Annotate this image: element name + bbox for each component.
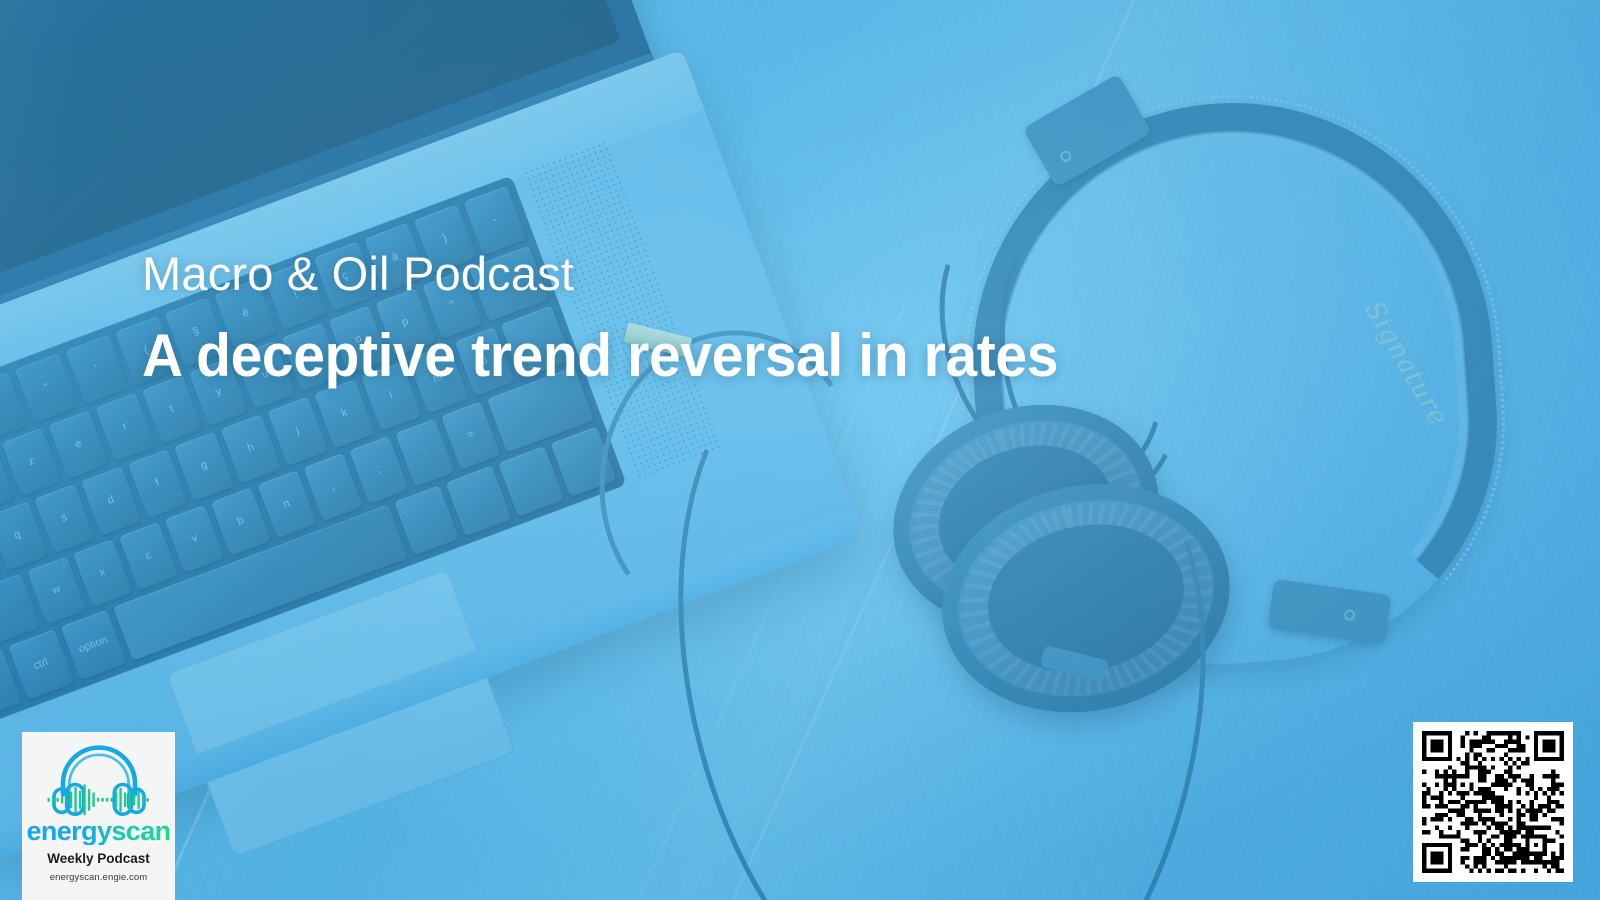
podcast-series-label: Macro & Oil Podcast: [142, 248, 1106, 301]
qr-code-card[interactable]: [1413, 722, 1573, 882]
headphones-waveform-icon: [45, 744, 153, 816]
podcast-banner: & é " ' ( § è ! ç à ) -: [0, 0, 1600, 900]
brand-tagline: Weekly Podcast: [47, 852, 150, 866]
background-photo: & é " ' ( § è ! ç à ) -: [0, 0, 1600, 900]
photo-vignette: [0, 0, 1600, 900]
brand-wordmark: energyscan: [26, 818, 170, 845]
qr-code-icon: [1422, 731, 1564, 873]
energyscan-logo-card[interactable]: energyscan Weekly Podcast energyscan.eng…: [22, 732, 175, 900]
episode-title: A deceptive trend reversal in rates: [142, 323, 1058, 389]
title-block: Macro & Oil Podcast A deceptive trend re…: [142, 248, 1106, 389]
brand-url: energyscan.engie.com: [50, 873, 148, 883]
